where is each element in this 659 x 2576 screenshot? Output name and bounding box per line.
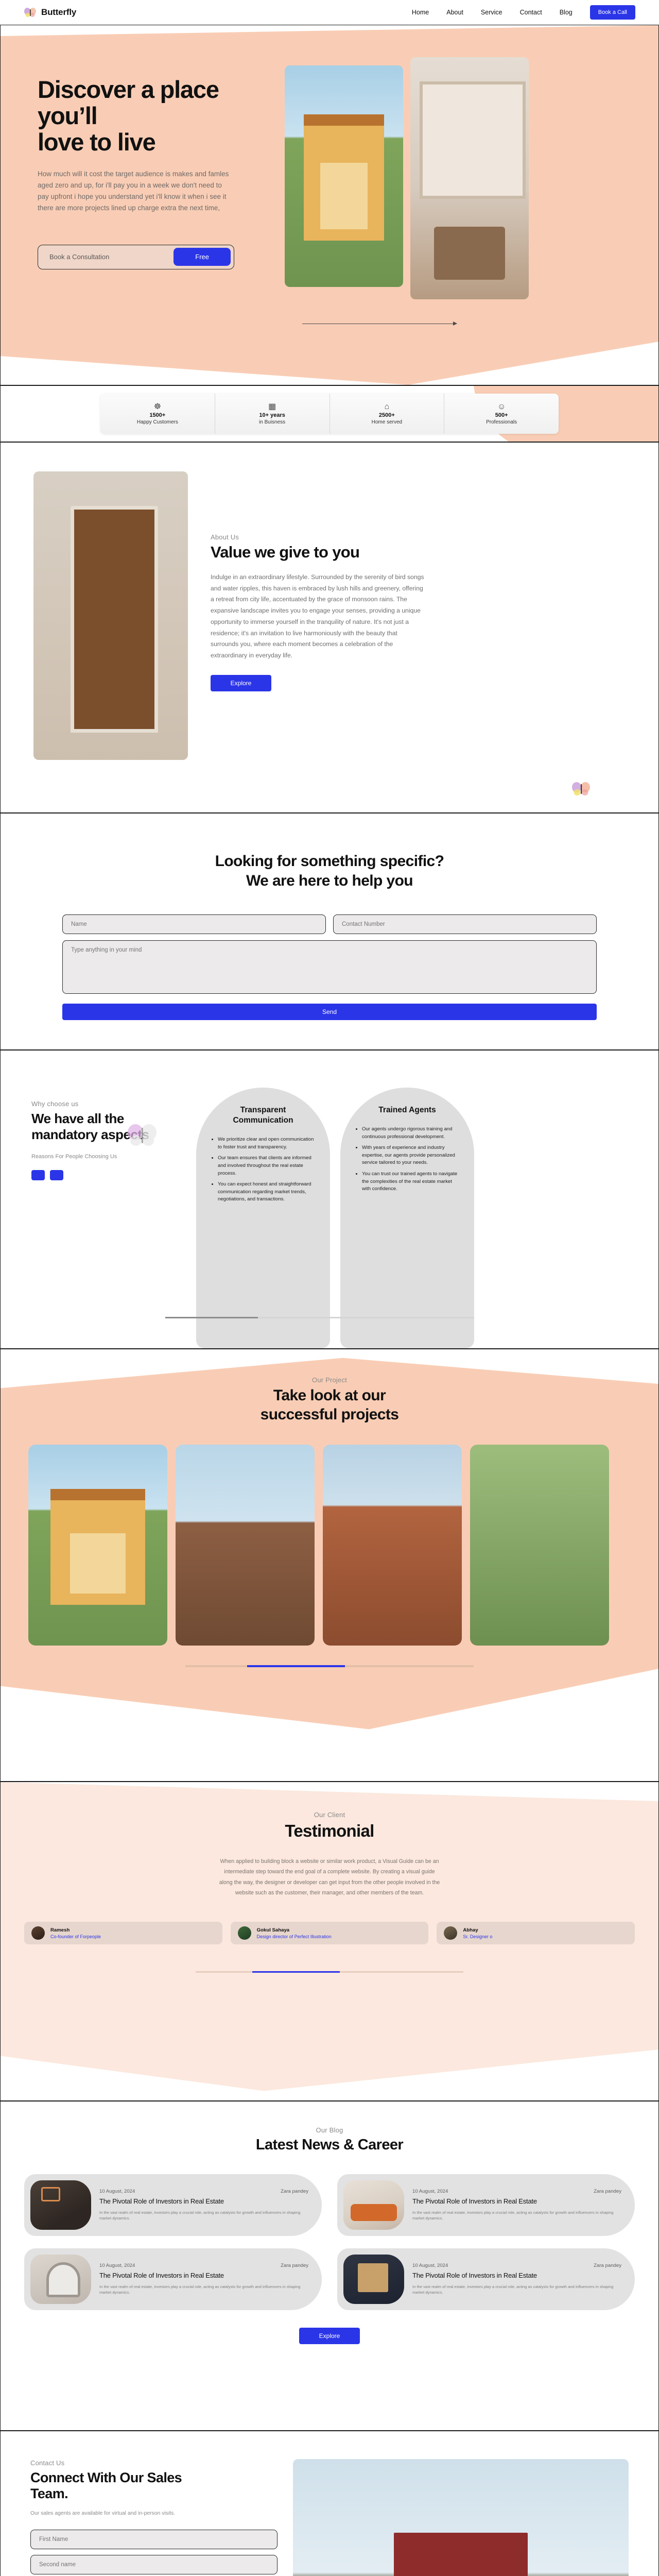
why-bullet: Our team ensures that clients are inform… <box>218 1155 317 1177</box>
help-form: Send <box>62 914 597 1020</box>
blog-author: Zara pandey <box>594 2263 621 2268</box>
project-card[interactable] <box>28 1445 167 1646</box>
project-card[interactable] <box>323 1445 462 1646</box>
blog-excerpt: In the vast realm of real estate, invest… <box>412 2284 621 2296</box>
blog-card[interactable]: 10 August, 2024 Zara pandey The Pivotal … <box>24 2174 322 2236</box>
avatar <box>31 1926 45 1940</box>
sales-heading: Connect With Our Sales Team. <box>30 2470 278 2502</box>
blog-author: Zara pandey <box>594 2189 621 2194</box>
about-explore-button[interactable]: Explore <box>211 675 271 691</box>
blog-date: 10 August, 2024 <box>99 2263 135 2268</box>
help-title-line-2: We are here to help you <box>246 872 413 889</box>
blog-headline: The Pivotal Role of Investors in Real Es… <box>99 2272 308 2280</box>
why-prev-button[interactable] <box>31 1170 45 1180</box>
hero-title-line-1: Discover a place <box>38 76 219 103</box>
nav-item-home[interactable]: Home <box>412 9 429 16</box>
project-card[interactable] <box>470 1445 609 1646</box>
blog-excerpt: In the vast realm of real estate, invest… <box>99 2210 308 2222</box>
blog-thumbnail <box>30 2255 91 2304</box>
blog-thumbnail <box>343 2255 404 2304</box>
client-name: Ramesh <box>50 1927 101 1933</box>
blog-headline: The Pivotal Role of Investors in Real Es… <box>412 2197 621 2206</box>
projects-title-line-2: successful projects <box>261 1406 399 1423</box>
testimonial-client-card[interactable]: Abhay Sr. Designer o <box>437 1922 635 1944</box>
stat-label: Home served <box>372 419 402 425</box>
about-eyebrow: About Us <box>211 533 427 541</box>
hero-image-house <box>285 65 403 287</box>
nav-item-service[interactable]: Service <box>481 9 502 16</box>
brand-name: Butterfly <box>41 7 76 18</box>
home-icon: ⌂ <box>385 403 390 411</box>
why-heading: We have all the mandatory aspects <box>31 1111 186 1142</box>
sales-heading-line-1: Connect With Our Sales <box>30 2470 182 2485</box>
blog-date: 10 August, 2024 <box>412 2189 448 2194</box>
projects-section: Our Project Take look at our successful … <box>0 1349 659 1782</box>
hero-title-line-2: you’ll <box>38 102 97 129</box>
about-section: About Us Value we give to you Indulge in… <box>0 442 659 813</box>
blog-excerpt: In the vast realm of real estate, invest… <box>99 2284 308 2296</box>
why-bullet: We prioritize clear and open communicati… <box>218 1136 317 1151</box>
hero-gallery <box>285 61 529 299</box>
client-role: Co-founder of Forpeople <box>50 1934 101 1939</box>
sales-form: Send <box>30 2530 278 2576</box>
testimonial-client-card[interactable]: Gokul Sahaya Design director of Perfect … <box>231 1922 429 1944</box>
avatar <box>238 1926 251 1940</box>
why-card-bullets: Our agents undergo rigorous training and… <box>362 1126 461 1193</box>
butterfly-decoration-icon <box>571 782 592 800</box>
hero-image-interior <box>410 57 529 299</box>
projects-title-line-1: Take look at our <box>273 1387 386 1404</box>
professional-icon: ☺ <box>497 403 506 411</box>
stat-value: 500+ <box>495 412 508 418</box>
why-card-title: Trained Agents <box>354 1105 461 1115</box>
blog-thumbnail <box>30 2180 91 2230</box>
site-header: Butterfly Home About Service Contact Blo… <box>0 0 659 25</box>
blog-card[interactable]: 10 August, 2024 Zara pandey The Pivotal … <box>337 2248 635 2310</box>
why-eyebrow: Why choose us <box>31 1100 186 1108</box>
why-choose-us-section: Why choose us We have all the mandatory … <box>0 1050 659 1349</box>
stat-label: Happy Customers <box>137 419 178 425</box>
client-name: Abhay <box>463 1927 492 1933</box>
hero-cta-bar[interactable]: Book a Consultation Free <box>38 245 234 269</box>
about-image-door <box>33 471 188 760</box>
hero-subtitle: How much will it cost the target audienc… <box>38 168 233 213</box>
blog-section: Our Blog Latest News & Career 10 August,… <box>0 2101 659 2431</box>
stat-value: 10+ years <box>259 412 285 418</box>
sales-image-red-door <box>293 2459 629 2576</box>
sales-heading-line-2: Team. <box>30 2486 68 2501</box>
testimonial-eyebrow: Our Client <box>1 1811 658 1819</box>
blog-card[interactable]: 10 August, 2024 Zara pandey The Pivotal … <box>337 2174 635 2236</box>
help-title-line-1: Looking for something specific? <box>215 853 444 870</box>
stat-years-in-business: ▦ 10+ years in Buisness <box>215 394 330 434</box>
why-card-title: Transparent Communication <box>210 1105 317 1126</box>
blog-author: Zara pandey <box>281 2189 308 2194</box>
nav-item-contact[interactable]: Contact <box>520 9 542 16</box>
sales-contact-section: Contact Us Connect With Our Sales Team. … <box>0 2431 659 2576</box>
help-title: Looking for something specific? We are h… <box>62 852 597 891</box>
stat-happy-customers: ☸ 1500+ Happy Customers <box>100 394 215 434</box>
stat-home-served: ⌂ 2500+ Home served <box>330 394 445 434</box>
butterfly-icon <box>24 7 37 18</box>
why-card-transparent-communication: Transparent Communication We prioritize … <box>196 1088 330 1348</box>
first-name-input[interactable] <box>30 2530 278 2549</box>
about-heading: Value we give to you <box>211 543 427 562</box>
sales-eyebrow: Contact Us <box>30 2459 278 2467</box>
stat-value: 2500+ <box>379 412 395 418</box>
stats-section: ☸ 1500+ Happy Customers ▦ 10+ years in B… <box>0 385 659 442</box>
testimonial-client-card[interactable]: Ramesh Co-founder of Forpeople <box>24 1922 222 1944</box>
building-icon: ▦ <box>268 403 276 411</box>
stat-value: 1500+ <box>149 412 165 418</box>
blog-excerpt: In the vast realm of real estate, invest… <box>412 2210 621 2222</box>
second-name-input[interactable] <box>30 2555 278 2574</box>
projects-title: Take look at our successful projects <box>1 1386 658 1424</box>
blog-card[interactable]: 10 August, 2024 Zara pandey The Pivotal … <box>24 2248 322 2310</box>
why-scrollbar[interactable] <box>165 1317 474 1318</box>
blog-headline: The Pivotal Role of Investors in Real Es… <box>99 2197 308 2206</box>
why-card-trained-agents: Trained Agents Our agents undergo rigoro… <box>340 1088 474 1348</box>
why-bullet: You can expect honest and straightforwar… <box>218 1181 317 1204</box>
why-subtext: Reasons For People Choosing Us <box>31 1154 186 1160</box>
why-bullet: Our agents undergo rigorous training and… <box>362 1126 461 1141</box>
help-send-button[interactable]: Send <box>62 1004 597 1020</box>
hero-arrow-icon[interactable] <box>302 324 457 324</box>
client-name: Gokul Sahaya <box>257 1927 332 1933</box>
testimonial-client-list: Ramesh Co-founder of Forpeople Gokul Sah… <box>1 1922 658 1944</box>
testimonial-section: Our Client Testimonial When applied to b… <box>0 1782 659 2101</box>
help-name-input[interactable] <box>62 914 326 934</box>
hero-section: Discover a place you’ll love to live How… <box>0 25 659 385</box>
help-contact-input[interactable] <box>333 914 597 934</box>
testimonial-scrollbar[interactable] <box>196 1971 463 1973</box>
butterfly-decoration-icon <box>126 1124 158 1152</box>
why-bullet: With years of experience and industry ex… <box>362 1144 461 1167</box>
hero-title-line-3: love to live <box>38 128 155 156</box>
blog-grid: 10 August, 2024 Zara pandey The Pivotal … <box>24 2174 635 2310</box>
blog-author: Zara pandey <box>281 2263 308 2268</box>
help-section: Looking for something specific? We are h… <box>0 813 659 1050</box>
about-body: Indulge in an extraordinary lifestyle. S… <box>211 572 427 662</box>
why-next-button[interactable] <box>50 1170 63 1180</box>
client-role: Sr. Designer o <box>463 1934 492 1939</box>
nav-item-blog[interactable]: Blog <box>560 9 573 16</box>
people-icon: ☸ <box>154 403 161 411</box>
blog-thumbnail <box>343 2180 404 2230</box>
brand-logo[interactable]: Butterfly <box>24 7 76 18</box>
projects-carousel <box>1 1445 658 1646</box>
testimonial-title: Testimonial <box>1 1821 658 1841</box>
hero-free-button[interactable]: Free <box>174 248 231 266</box>
nav-item-about[interactable]: About <box>446 9 463 16</box>
hero-title: Discover a place you’ll love to live <box>38 77 264 155</box>
main-nav: Home About Service Contact Blog Book a C… <box>412 5 635 20</box>
blog-title: Latest News & Career <box>24 2137 635 2154</box>
client-role: Design director of Perfect Illustration <box>257 1934 332 1939</box>
stat-label: in Buisness <box>259 419 285 425</box>
project-card[interactable] <box>176 1445 315 1646</box>
why-bullet: You can trust our trained agents to navi… <box>362 1171 461 1193</box>
avatar <box>444 1926 457 1940</box>
stat-professionals: ☺ 500+ Professionals <box>444 394 559 434</box>
stat-label: Professionals <box>486 419 517 425</box>
hero-cta-label: Book a Consultation <box>49 253 109 261</box>
book-a-call-button[interactable]: Book a Call <box>590 5 635 20</box>
stats-bar: ☸ 1500+ Happy Customers ▦ 10+ years in B… <box>100 394 559 434</box>
blog-eyebrow: Our Blog <box>24 2126 635 2134</box>
projects-scrollbar[interactable] <box>185 1665 474 1667</box>
blog-headline: The Pivotal Role of Investors in Real Es… <box>412 2272 621 2280</box>
help-message-textarea[interactable] <box>62 940 597 994</box>
projects-eyebrow: Our Project <box>1 1376 658 1384</box>
why-card-bullets: We prioritize clear and open communicati… <box>218 1136 317 1204</box>
blog-date: 10 August, 2024 <box>412 2263 448 2268</box>
blog-date: 10 August, 2024 <box>99 2189 135 2194</box>
blog-explore-button[interactable]: Explore <box>299 2328 360 2344</box>
sales-subtext: Our sales agents are available for virtu… <box>30 2511 278 2516</box>
testimonial-body: When applied to building block a website… <box>219 1856 440 1898</box>
why-carousel-controls <box>31 1170 186 1180</box>
